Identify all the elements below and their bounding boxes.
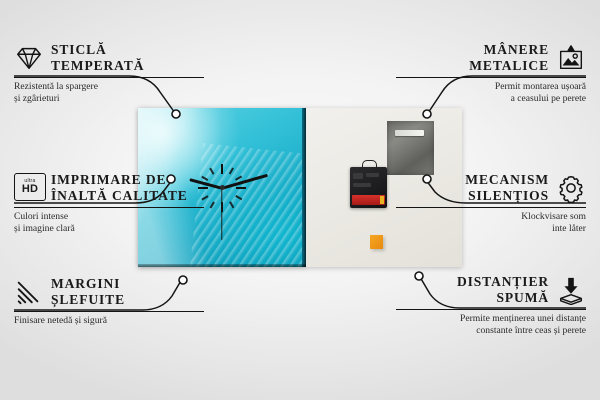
infographic-canvas: STICLĂ TEMPERATĂ Rezistentă la spargere … xyxy=(0,0,600,400)
clock-tick xyxy=(229,201,234,208)
clock-tick xyxy=(229,167,234,174)
feature-mechanism-title: MECANISM SILENȚIOS xyxy=(465,172,549,204)
feature-print-title: IMPRIMARE DE ÎNALTĂ CALITATE xyxy=(51,172,188,204)
feature-print: ultra HD IMPRIMARE DE ÎNALTĂ CALITATE Cu… xyxy=(14,172,204,235)
foam-spacer-icon xyxy=(556,275,586,305)
feature-spacer-header: DISTANȚIER SPUMĂ xyxy=(396,274,586,306)
feature-spacer-subtitle: Permite menținerea unei distanțe constan… xyxy=(396,313,586,337)
clock-tick xyxy=(235,175,242,180)
clock-center-pin xyxy=(220,185,225,190)
feature-print-header: ultra HD IMPRIMARE DE ÎNALTĂ CALITATE xyxy=(14,172,204,204)
picture-hanger-icon xyxy=(556,43,586,73)
foam-spacer xyxy=(370,235,383,249)
feature-print-rule xyxy=(14,207,204,208)
feature-spacer: DISTANȚIER SPUMĂ Permite menținerea unei… xyxy=(396,274,586,337)
ultra-hd-icon-main-text: HD xyxy=(22,184,38,195)
feature-glass: STICLĂ TEMPERATĂ Rezistentă la spargere … xyxy=(14,42,204,105)
feature-glass-subtitle: Rezistentă la spargere și zgârieturi xyxy=(14,81,204,105)
mechanism-detail xyxy=(353,183,371,188)
feature-glass-title: STICLĂ TEMPERATĂ xyxy=(51,42,144,74)
mechanism-detail xyxy=(353,173,363,180)
clock-tick xyxy=(210,201,215,208)
feature-mechanism-subtitle: Klockvisare som inte låter xyxy=(396,211,586,235)
hanger-slot xyxy=(395,130,424,136)
feature-handles-rule xyxy=(396,77,586,78)
ultra-hd-icon: ultra HD xyxy=(14,173,44,203)
feature-edges-subtitle: Finisare netedă și sigură xyxy=(14,315,204,327)
feature-mechanism-rule xyxy=(396,207,586,208)
feature-print-subtitle: Culori intense și imagine clară xyxy=(14,211,204,235)
feature-mechanism-header: MECANISM SILENȚIOS xyxy=(396,172,586,204)
battery xyxy=(352,195,385,205)
feature-mechanism: MECANISM SILENȚIOS Klockvisare som inte … xyxy=(396,172,586,235)
clock-tick xyxy=(235,195,242,200)
mechanism-loop xyxy=(362,160,377,169)
metal-hanger-bracket xyxy=(387,121,434,175)
feature-spacer-rule xyxy=(396,309,586,310)
ultra-hd-box: ultra HD xyxy=(14,173,46,201)
feature-handles: MÂNERE METALICE Permit montarea ușoară a… xyxy=(396,42,586,105)
feature-glass-rule xyxy=(14,77,204,78)
battery-cap xyxy=(380,196,384,204)
feature-edges: MARGINI ȘLEFUITE Finisare netedă și sigu… xyxy=(14,276,204,327)
feature-edges-title: MARGINI ȘLEFUITE xyxy=(51,276,125,308)
gear-icon xyxy=(556,173,586,203)
feature-edges-rule xyxy=(14,311,204,312)
feature-handles-title: MÂNERE METALICE xyxy=(469,42,549,74)
feature-spacer-title: DISTANȚIER SPUMĂ xyxy=(457,274,549,306)
diamond-icon xyxy=(14,43,44,73)
feature-handles-subtitle: Permit montarea ușoară a ceasului pe per… xyxy=(396,81,586,105)
clock-second-hand xyxy=(221,188,222,240)
clock-tick xyxy=(221,164,223,174)
clock-tick xyxy=(236,187,246,189)
clock-bottom-shadow xyxy=(138,264,306,267)
mechanism-detail xyxy=(366,173,379,177)
clock-tick xyxy=(210,167,215,174)
feature-handles-header: MÂNERE METALICE xyxy=(396,42,586,74)
polished-edge-icon xyxy=(14,277,44,307)
feature-edges-header: MARGINI ȘLEFUITE xyxy=(14,276,204,308)
clock-mechanism xyxy=(350,167,387,208)
feature-glass-header: STICLĂ TEMPERATĂ xyxy=(14,42,204,74)
